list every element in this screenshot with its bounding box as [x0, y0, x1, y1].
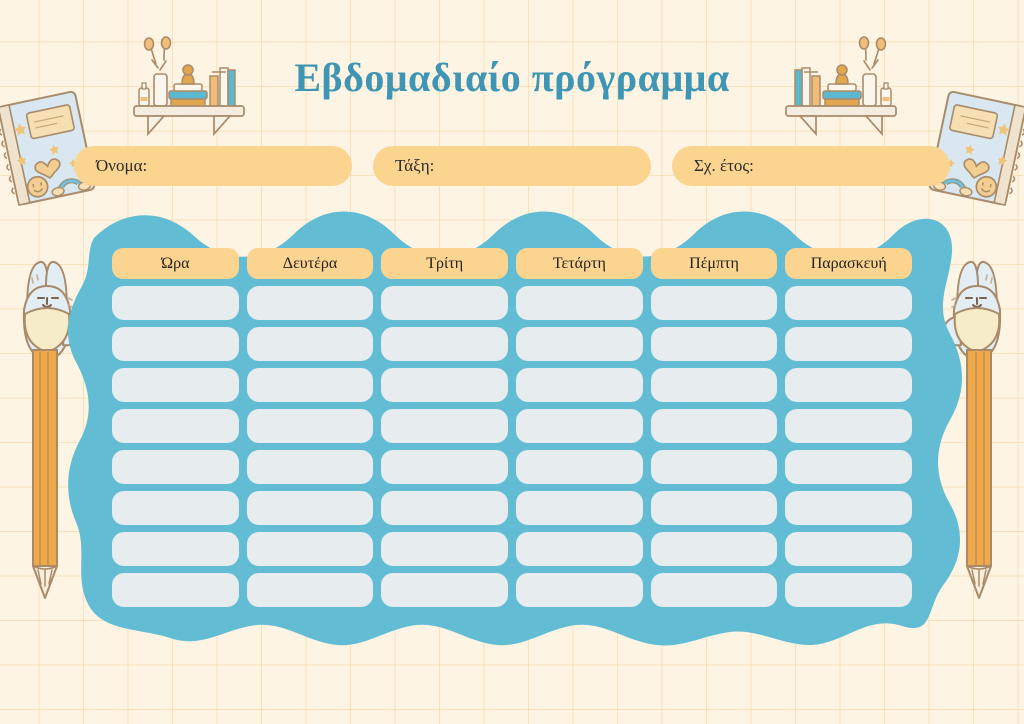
cell-friday[interactable] — [785, 368, 912, 402]
cell-hour[interactable] — [112, 491, 239, 525]
school-year-field-label: Σχ. έτος: — [694, 156, 754, 176]
cell-tuesday[interactable] — [381, 450, 508, 484]
cell-tuesday[interactable] — [381, 573, 508, 607]
column-header-hour: Ώρα — [112, 248, 239, 279]
cell-wednesday[interactable] — [516, 286, 643, 320]
cell-monday[interactable] — [247, 491, 374, 525]
table-row — [112, 368, 912, 402]
cell-tuesday[interactable] — [381, 409, 508, 443]
cell-thursday[interactable] — [651, 327, 778, 361]
table-row — [112, 532, 912, 566]
cell-friday[interactable] — [785, 573, 912, 607]
cell-thursday[interactable] — [651, 409, 778, 443]
cell-tuesday[interactable] — [381, 368, 508, 402]
cell-tuesday[interactable] — [381, 327, 508, 361]
cell-wednesday[interactable] — [516, 573, 643, 607]
name-field[interactable]: Όνομα: — [74, 146, 352, 186]
cell-tuesday[interactable] — [381, 286, 508, 320]
cell-hour[interactable] — [112, 409, 239, 443]
cell-hour[interactable] — [112, 450, 239, 484]
cell-monday[interactable] — [247, 532, 374, 566]
cell-monday[interactable] — [247, 368, 374, 402]
cell-wednesday[interactable] — [516, 327, 643, 361]
cell-friday[interactable] — [785, 327, 912, 361]
cell-hour[interactable] — [112, 368, 239, 402]
column-header-wednesday: Τετάρτη — [516, 248, 643, 279]
cell-monday[interactable] — [247, 286, 374, 320]
column-header-thursday: Πέμπτη — [651, 248, 778, 279]
cell-thursday[interactable] — [651, 368, 778, 402]
cell-wednesday[interactable] — [516, 409, 643, 443]
cell-thursday[interactable] — [651, 532, 778, 566]
cell-monday[interactable] — [247, 409, 374, 443]
cell-monday[interactable] — [247, 327, 374, 361]
table-row — [112, 450, 912, 484]
cell-wednesday[interactable] — [516, 450, 643, 484]
cell-tuesday[interactable] — [381, 491, 508, 525]
column-header-friday: Παρασκευή — [785, 248, 912, 279]
cell-thursday[interactable] — [651, 286, 778, 320]
class-field-label: Τάξη: — [395, 156, 434, 176]
table-row — [112, 573, 912, 607]
schedule-table: Ώρα Δευτέρα Τρίτη Τετάρτη Πέμπτη Παρασκε… — [112, 248, 912, 607]
cell-hour[interactable] — [112, 286, 239, 320]
column-header-monday: Δευτέρα — [247, 248, 374, 279]
cell-tuesday[interactable] — [381, 532, 508, 566]
table-row — [112, 327, 912, 361]
cell-hour[interactable] — [112, 327, 239, 361]
cell-wednesday[interactable] — [516, 532, 643, 566]
column-header-tuesday: Τρίτη — [381, 248, 508, 279]
cell-thursday[interactable] — [651, 491, 778, 525]
cell-friday[interactable] — [785, 532, 912, 566]
cell-friday[interactable] — [785, 491, 912, 525]
cell-hour[interactable] — [112, 573, 239, 607]
cell-friday[interactable] — [785, 286, 912, 320]
page-title: Εβδομαδιαίο πρόγραμμα — [0, 54, 1024, 102]
cell-thursday[interactable] — [651, 573, 778, 607]
table-header-row: Ώρα Δευτέρα Τρίτη Τετάρτη Πέμπτη Παρασκε… — [112, 248, 912, 279]
table-row — [112, 286, 912, 320]
cell-monday[interactable] — [247, 573, 374, 607]
cell-thursday[interactable] — [651, 450, 778, 484]
cell-friday[interactable] — [785, 409, 912, 443]
meta-fields: Όνομα: Τάξη: Σχ. έτος: — [74, 146, 950, 186]
weekly-schedule-page: Εβδομαδιαίο πρόγραμμα Όνομα: Τάξη: Σχ. έ… — [0, 0, 1024, 724]
table-row — [112, 491, 912, 525]
name-field-label: Όνομα: — [96, 156, 147, 176]
cell-hour[interactable] — [112, 532, 239, 566]
cell-friday[interactable] — [785, 450, 912, 484]
cell-wednesday[interactable] — [516, 368, 643, 402]
cell-monday[interactable] — [247, 450, 374, 484]
table-row — [112, 409, 912, 443]
school-year-field[interactable]: Σχ. έτος: — [672, 146, 950, 186]
cell-wednesday[interactable] — [516, 491, 643, 525]
class-field[interactable]: Τάξη: — [373, 146, 651, 186]
